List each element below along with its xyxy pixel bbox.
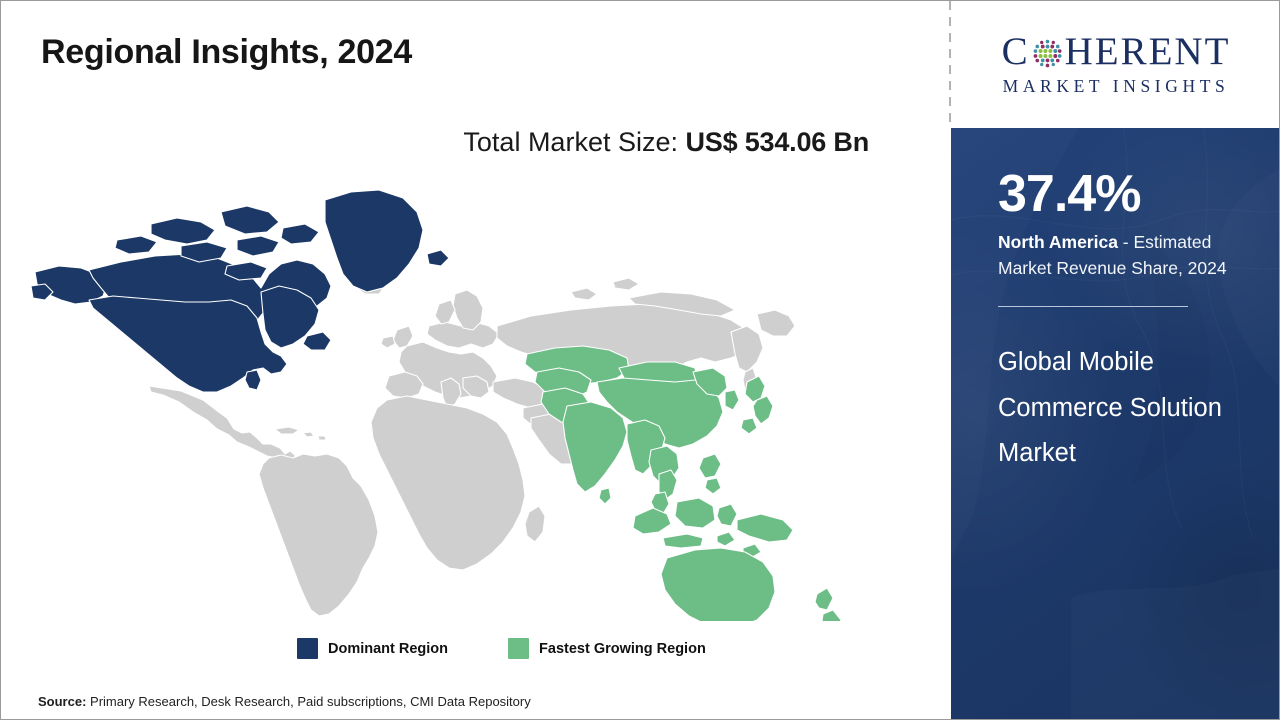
stat-region-name: North America xyxy=(998,232,1118,252)
source-note: Source: Primary Research, Desk Research,… xyxy=(38,694,531,709)
source-label: Source: xyxy=(38,694,86,709)
infographic-root: Regional Insights, 2024 Total Market Siz… xyxy=(0,0,1280,720)
legend-label-fastest-growing: Fastest Growing Region xyxy=(539,641,706,657)
stat-caption: North America - Estimated Market Revenue… xyxy=(998,230,1253,281)
logo-tagline: MARKET INSIGHTS xyxy=(966,76,1266,97)
logo-wordmark: C xyxy=(966,32,1266,71)
globe-dots-svg xyxy=(1031,37,1064,70)
stat-value: 37.4% xyxy=(998,168,1253,221)
map-region-asia-pacific xyxy=(525,346,841,621)
logo-letters-herent: HERENT xyxy=(1065,32,1231,71)
source-text: Primary Research, Desk Research, Paid su… xyxy=(86,694,530,709)
stat-panel-content: 37.4% North America - Estimated Market R… xyxy=(951,128,1280,477)
legend-item-fastest-growing: Fastest Growing Region xyxy=(508,638,706,659)
legend-swatch-fastest-growing xyxy=(508,638,529,659)
world-map xyxy=(31,186,921,621)
logo-letter-c: C xyxy=(1002,32,1030,71)
total-market-size: Total Market Size: US$ 534.06 Bn xyxy=(1,127,869,158)
left-content-pane: Regional Insights, 2024 Total Market Siz… xyxy=(1,1,949,719)
legend-label-dominant: Dominant Region xyxy=(328,641,448,657)
map-region-north-america xyxy=(31,190,449,392)
market-size-value: US$ 534.06 Bn xyxy=(686,127,870,157)
page-title: Regional Insights, 2024 xyxy=(41,33,412,72)
market-name: Global Mobile Commerce Solution Market xyxy=(998,340,1248,476)
brand-logo: C xyxy=(951,1,1280,128)
legend-item-dominant: Dominant Region xyxy=(297,638,448,659)
world-map-svg xyxy=(31,186,921,621)
globe-dots-icon xyxy=(1031,37,1064,70)
stat-panel: 37.4% North America - Estimated Market R… xyxy=(951,128,1280,720)
logo-stack: C xyxy=(966,32,1266,97)
map-legend: Dominant Region Fastest Growing Region xyxy=(297,638,706,659)
legend-swatch-dominant xyxy=(297,638,318,659)
panel-divider-rule xyxy=(998,306,1188,307)
market-size-label: Total Market Size: xyxy=(463,127,678,157)
